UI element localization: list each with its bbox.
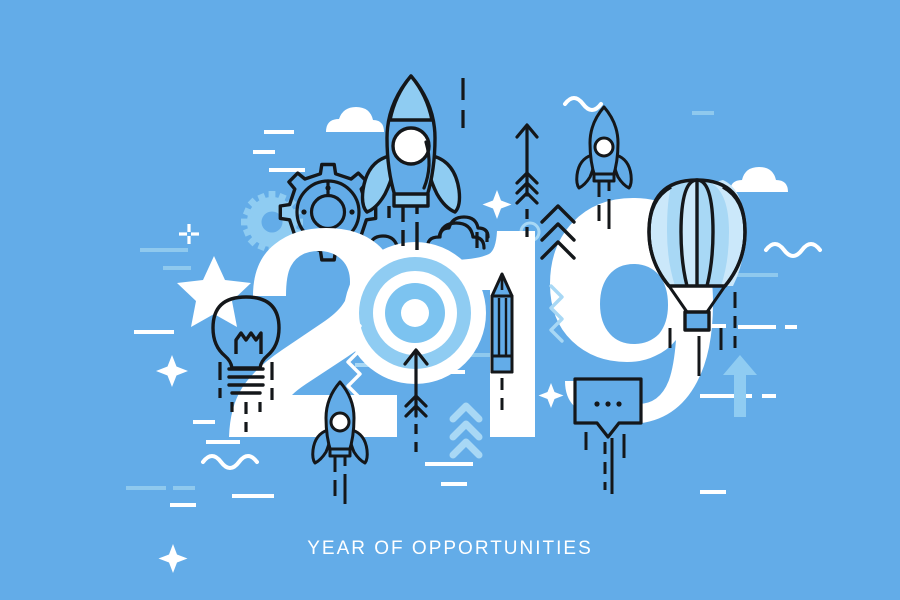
poster-canvas: YEAR OF OPPORTUNITIES <box>0 0 900 600</box>
page-title: YEAR OF OPPORTUNITIES <box>0 538 900 560</box>
illustration <box>0 0 900 600</box>
